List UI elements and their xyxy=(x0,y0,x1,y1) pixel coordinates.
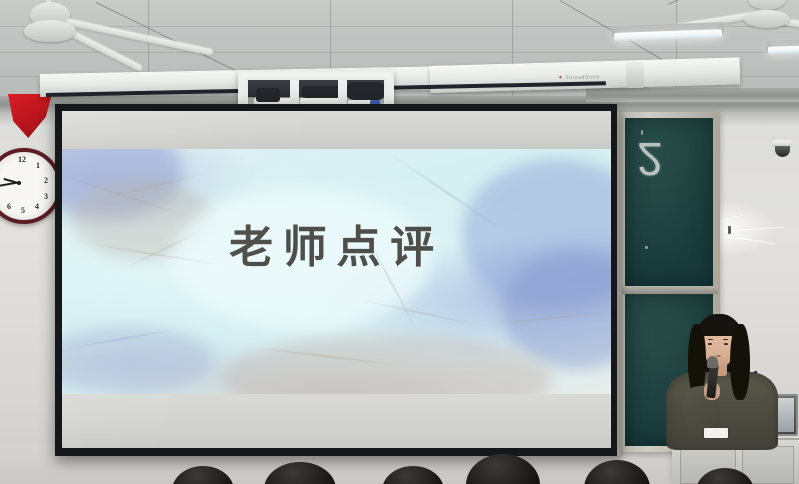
speaker-woman xyxy=(660,310,799,446)
clock-numeral: 3 xyxy=(41,192,51,202)
projected-slide: 老师点评 xyxy=(62,149,611,394)
ceiling-fan-left xyxy=(0,0,204,66)
screen-roller-end-cap xyxy=(626,62,644,88)
chalkboard-upper: 2 xyxy=(625,118,713,286)
classroom-photo: 12 1 2 3 4 5 6 2 ✦ ThroadStore xyxy=(0,0,799,484)
clock-numeral: 1 xyxy=(33,161,43,171)
projector-mount-bracket xyxy=(302,86,342,98)
clock-hand-minute xyxy=(0,182,18,187)
clock-numeral: 5 xyxy=(18,206,28,216)
lanyard-badge xyxy=(704,428,728,438)
wall-nail xyxy=(728,226,731,234)
clock-center-pin xyxy=(17,181,21,185)
screen-brand-logo: ✦ ThroadStore xyxy=(558,73,600,81)
projection-screen-surface: 老师点评 xyxy=(62,111,611,448)
podium-front-panel xyxy=(742,446,794,484)
clock-numeral: 6 xyxy=(4,202,14,212)
slide-title: 老师点评 xyxy=(62,223,611,273)
ceiling-light-far-right xyxy=(768,45,799,55)
dome-security-camera xyxy=(770,136,796,160)
hair-side-right xyxy=(730,324,750,400)
chalk-mark: 2 xyxy=(637,136,663,182)
projection-screen: 老师点评 xyxy=(55,104,617,456)
screen-blank-area xyxy=(62,394,611,448)
screen-blank-top xyxy=(62,111,611,149)
clock-numeral: 2 xyxy=(41,176,51,186)
clock-numeral: 4 xyxy=(32,202,42,212)
projector-cable-bundle xyxy=(346,82,386,100)
projector-lens-housing xyxy=(256,88,280,102)
clock-numeral: 12 xyxy=(17,155,27,165)
brand-mark-icon: ✦ xyxy=(558,75,564,81)
wall-beam-lower xyxy=(586,88,799,102)
chalkboard-divider xyxy=(622,286,718,294)
microphone-head xyxy=(707,356,718,368)
